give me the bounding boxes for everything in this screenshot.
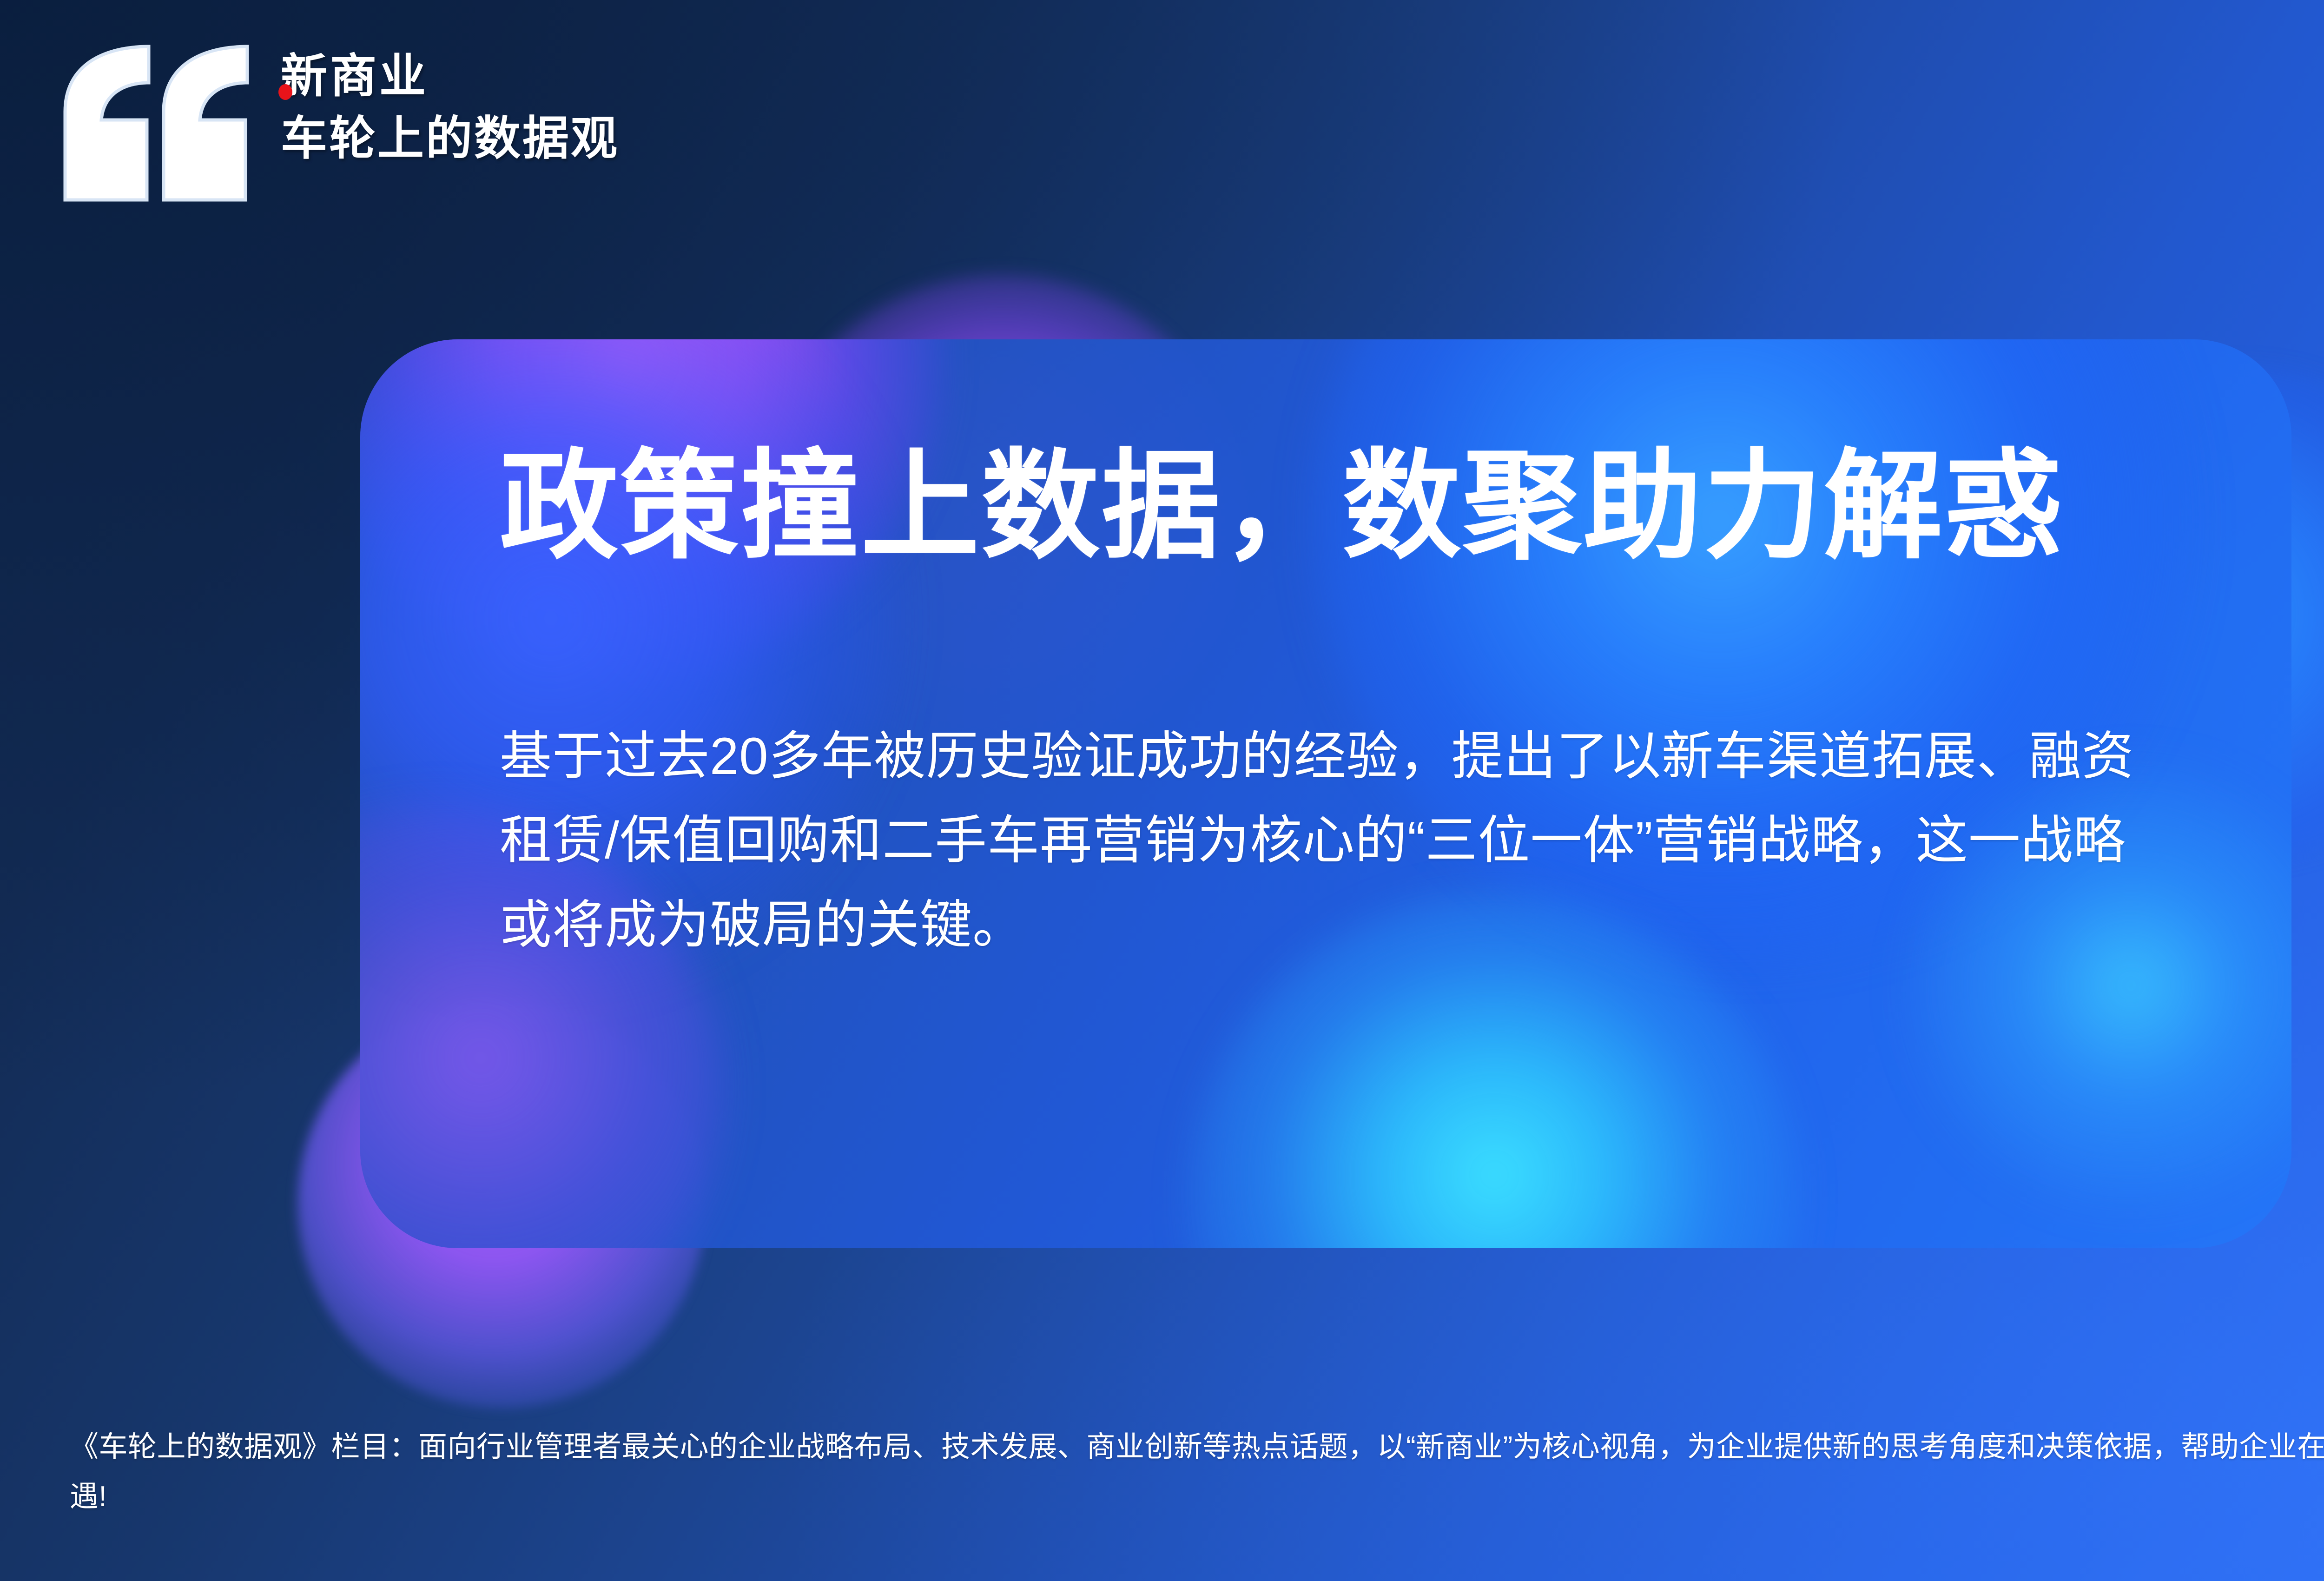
brand-logo: 新商业 车轮上的数据观 — [60, 42, 619, 205]
content-card: 政策撞上数据，数聚助力解惑 基于过去20多年被历史验证成功的经验，提出了以新车渠… — [360, 339, 2291, 1248]
card-body-text: 基于过去20多年被历史验证成功的经验，提出了以新车渠道拓展、融资租赁/保值回购和… — [500, 714, 2152, 967]
slide-canvas: 新商业 车轮上的数据观 政策撞上数据，数聚助力解惑 基于过去20多年被历史验证成… — [0, 0, 2324, 1581]
page-title: 政策撞上数据，数聚助力解惑 — [500, 439, 2152, 575]
card-content: 政策撞上数据，数聚助力解惑 基于过去20多年被历史验证成功的经验，提出了以新车渠… — [360, 339, 2291, 1248]
brand-column: 车轮上的数据观 — [281, 112, 619, 165]
brand-name: 新商业 — [281, 50, 429, 102]
footer-description: 《车轮上的数据观》栏目：面向行业管理者最关心的企业战略布局、技术发展、商业创新等… — [70, 1422, 2324, 1521]
brand-text: 新商业 车轮上的数据观 — [281, 42, 619, 165]
accent-dot-icon — [278, 84, 292, 100]
brand-name-row: 新商业 — [281, 50, 619, 102]
quote-open-icon — [60, 42, 256, 205]
